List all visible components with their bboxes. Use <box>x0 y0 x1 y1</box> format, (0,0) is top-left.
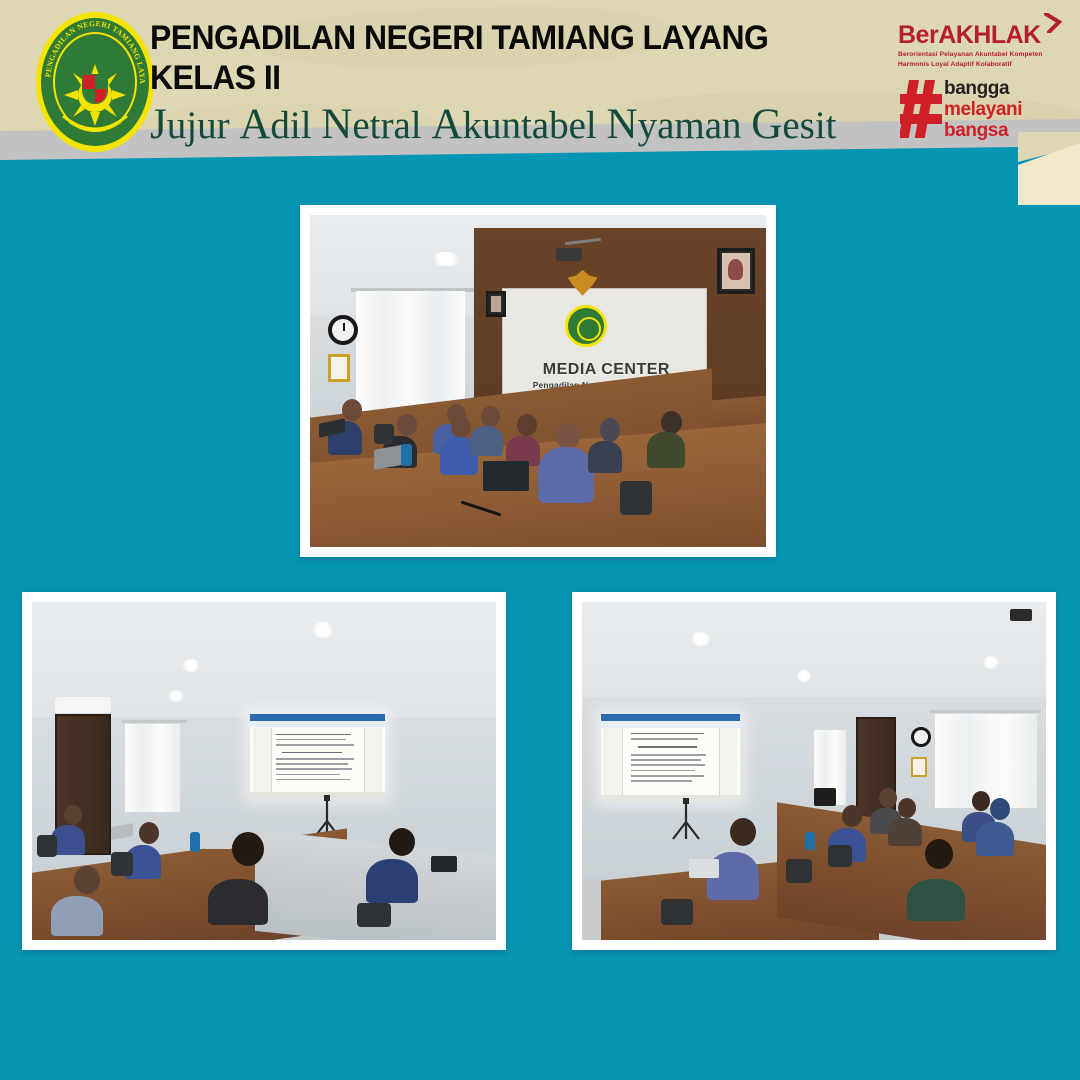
bangga-word-1: bangga <box>944 78 1022 99</box>
chair <box>374 424 394 444</box>
chair <box>357 903 391 927</box>
document-title-bar <box>250 714 385 722</box>
tagline-seg: yaman <box>638 104 752 147</box>
photo-bottom-right[interactable] <box>572 592 1056 950</box>
person-body <box>976 822 1014 856</box>
chair <box>828 845 852 867</box>
person-head <box>397 414 417 436</box>
bangga-wordmark: bangga melayani bangsa <box>944 78 1022 141</box>
person-body <box>366 859 418 903</box>
tumbler-bottle <box>805 832 815 850</box>
footer-contact-bar: pn_tamianglayang f Pengadilan Negeri Tam… <box>0 960 1080 1080</box>
person-body <box>588 441 622 473</box>
photo-bottom-left[interactable] <box>22 592 506 950</box>
person-head <box>972 791 990 811</box>
person-body <box>51 896 103 936</box>
laptop <box>689 859 719 878</box>
bangga-word-3: bangsa <box>944 120 1022 141</box>
official-portrait-small <box>486 291 506 317</box>
chair <box>786 859 812 883</box>
seal-shield-icon <box>82 74 108 104</box>
tagline-seg: N <box>321 101 352 148</box>
laptop <box>431 856 457 872</box>
tagline-seg: N <box>607 101 638 148</box>
projector-icon <box>556 248 582 261</box>
photo-bottom-left-image <box>32 602 496 940</box>
photo-main[interactable]: MEDIA CENTER Pengadilan Negeri Tamiang L… <box>300 205 776 557</box>
header-title-block: PENGADILAN NEGERI TAMIANG LAYANG KELAS I… <box>150 18 890 149</box>
person-head <box>879 788 897 808</box>
laptop <box>204 832 232 849</box>
chair <box>620 481 652 515</box>
person-head <box>842 805 862 827</box>
person-head-foreground <box>232 832 264 866</box>
tripod-stand <box>670 798 702 840</box>
official-portrait-large <box>717 248 755 294</box>
person-head <box>481 406 500 427</box>
ceiling-light <box>795 670 813 682</box>
document-title-bar <box>601 714 740 722</box>
bangga-word-2: melayani <box>944 99 1022 120</box>
curtain-rod <box>930 710 1041 713</box>
photo-main-image: MEDIA CENTER Pengadilan Negeri Tamiang L… <box>310 215 766 547</box>
person-body <box>647 432 685 468</box>
person-body <box>888 818 922 846</box>
berakhlak-subtitle-2: Harmonis Loyal Adaptif Kolaboratif <box>898 60 1048 69</box>
room-ceiling <box>582 602 1046 710</box>
berakhlak-logo: BerAKHLAK Berorientasi Pelayanan Akuntab… <box>898 22 1048 69</box>
speaker <box>814 788 836 806</box>
ceiling-light <box>167 690 185 702</box>
tagline-seg: kuntabel <box>462 104 606 147</box>
page-title-line1: PENGADILAN NEGERI TAMIANG LAYANG <box>150 18 846 58</box>
document-left-margin <box>603 728 622 798</box>
person-head <box>139 822 159 844</box>
seal-wreath-icon <box>59 112 131 138</box>
framed-certificate <box>328 354 350 382</box>
tagline-seg: dil <box>270 104 321 147</box>
ceiling-light <box>429 252 463 266</box>
hash-icon <box>900 80 942 138</box>
wall-clock-icon <box>328 315 358 345</box>
tagline-seg: J <box>150 101 167 148</box>
chair <box>111 852 133 876</box>
page-title-line2: KELAS II <box>150 58 846 98</box>
tumbler-bottle <box>190 832 200 852</box>
photo-bottom-right-image <box>582 602 1046 940</box>
person-body <box>470 426 503 456</box>
court-seal-on-wall <box>565 305 607 347</box>
person-body-foreground <box>538 447 594 503</box>
berakhlak-ber: Ber <box>898 21 938 49</box>
room-window <box>125 724 181 812</box>
person-head-foreground <box>925 839 953 869</box>
document-toolbar <box>250 721 385 727</box>
berakhlak-akhlak: AKHLAK <box>938 21 1041 49</box>
document-right-margin <box>364 728 381 796</box>
person-body-foreground <box>907 879 965 921</box>
court-seal-icon: PENGADILAN NEGERI TAMIANG LAYANG <box>36 12 154 152</box>
projection-screen <box>601 714 740 802</box>
berakhlak-wordmark: BerAKHLAK <box>898 22 1048 49</box>
chair <box>37 835 57 857</box>
tagline-seg: esit <box>782 104 836 147</box>
framed-certificate <box>911 757 927 777</box>
header-tagline: Jujur Adil Netral Akuntabel Nyaman Gesit <box>150 102 890 149</box>
person-head <box>661 411 682 434</box>
bangga-melayani-bangsa-logo: bangga melayani bangsa <box>900 78 1050 142</box>
tagline-seg: A <box>431 101 462 148</box>
person-head <box>600 418 620 442</box>
room-window <box>356 291 465 411</box>
document-right-margin <box>719 728 737 798</box>
person-head <box>342 399 362 421</box>
person-head <box>898 798 916 818</box>
person-head <box>74 866 100 894</box>
person-body-foreground <box>208 879 268 925</box>
berakhlak-subtitle-1: Berorientasi Pelayanan Akuntabel Kompete… <box>898 50 1048 59</box>
document-toolbar <box>601 721 740 727</box>
chair <box>661 899 693 925</box>
tagline-seg: etral <box>352 104 431 147</box>
person-head-foreground <box>556 423 580 449</box>
tagline-seg: ujur <box>167 104 240 147</box>
document-left-margin <box>253 728 272 796</box>
tagline-seg: A <box>239 101 270 148</box>
tumbler-bottle <box>401 444 412 466</box>
projector-icon <box>1010 609 1032 621</box>
curtain-rod <box>122 720 187 723</box>
laptop-foreground <box>483 461 529 491</box>
projection-screen <box>250 714 385 799</box>
tagline-seg: G <box>751 101 782 148</box>
berakhlak-swoosh-icon <box>1044 13 1062 33</box>
